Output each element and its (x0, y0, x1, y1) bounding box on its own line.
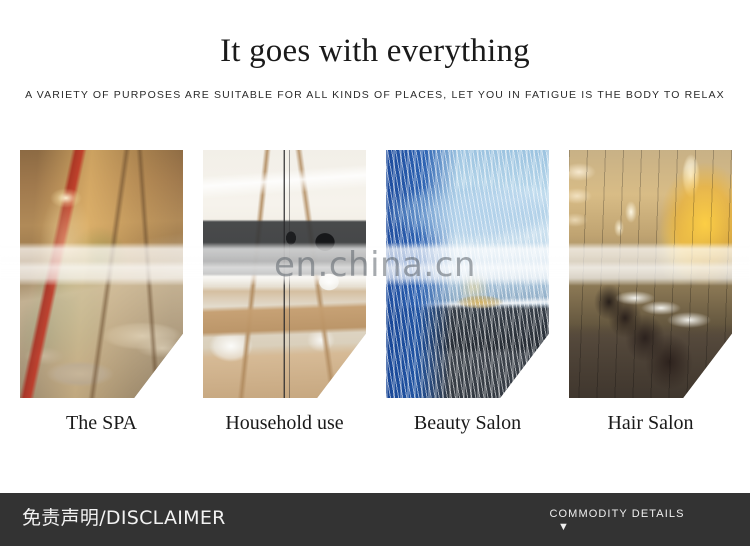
footer-bar: 免责声明/DISCLAIMER COMMODITY DETAILS ▼ (0, 493, 750, 546)
gallery-tile-household-use[interactable] (203, 150, 366, 398)
chevron-down-icon: ▼ (542, 522, 692, 533)
caption-beauty-salon: Beauty Salon (386, 408, 549, 444)
household-photo (203, 150, 366, 398)
commodity-details-label: COMMODITY DETAILS (542, 507, 692, 521)
page-subtitle: A VARIETY OF PURPOSES ARE SUITABLE FOR A… (0, 88, 750, 102)
disclaimer-label: 免责声明/DISCLAIMER (22, 505, 226, 531)
usage-scenario-gallery (20, 150, 732, 398)
gallery-tile-the-spa[interactable] (20, 150, 183, 398)
beauty-salon-photo (386, 150, 549, 398)
caption-the-spa: The SPA (20, 408, 183, 444)
gallery-tile-hair-salon[interactable] (569, 150, 732, 398)
commodity-details-group[interactable]: COMMODITY DETAILS ▼ (542, 507, 692, 533)
caption-household-use: Household use (203, 408, 366, 444)
hair-salon-photo (569, 150, 732, 398)
gallery-tile-beauty-salon[interactable] (386, 150, 549, 398)
page-title: It goes with everything (0, 30, 750, 72)
product-detail-banner: It goes with everything A VARIETY OF PUR… (0, 0, 750, 546)
spa-photo (20, 150, 183, 398)
gallery-caption-row: The SPA Household use Beauty Salon Hair … (20, 408, 732, 444)
caption-hair-salon: Hair Salon (569, 408, 732, 444)
